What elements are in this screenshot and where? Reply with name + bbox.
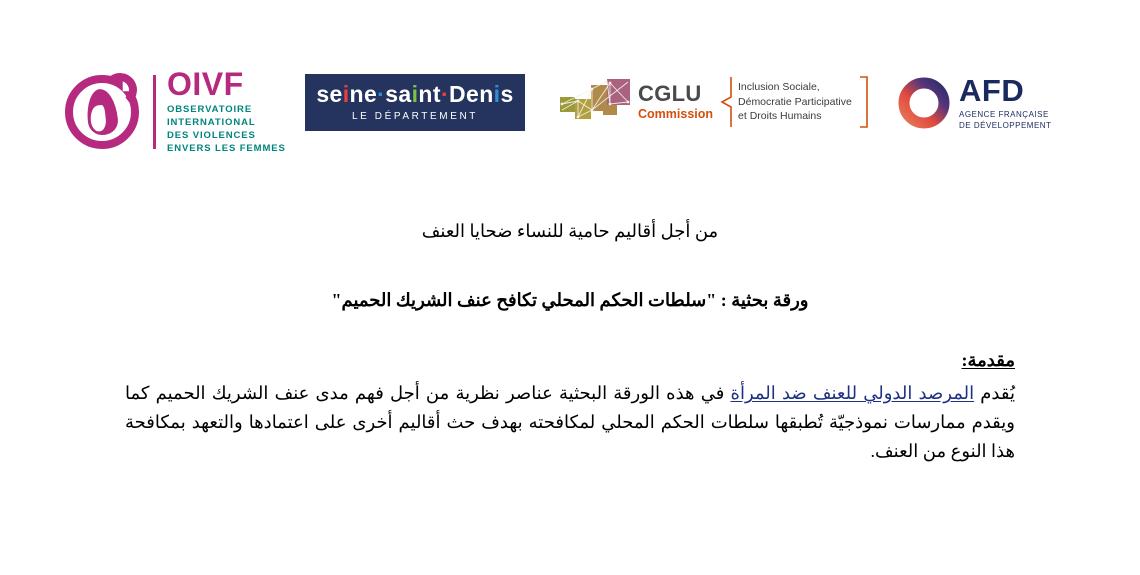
cglu-mosaic-icon bbox=[558, 77, 632, 127]
logo-oivf: OIVF OBSERVATOIRE INTERNATIONAL DES VIOL… bbox=[65, 62, 286, 162]
cglu-tagline-line-3: et Droits Humains bbox=[738, 109, 852, 124]
observatory-hyperlink[interactable]: المرصد الدولي للعنف ضد المرأة bbox=[731, 383, 975, 403]
document-subtitle: من أجل أقاليم حامية للنساء ضحايا العنف bbox=[125, 218, 1015, 245]
cglu-acronym: CGLU bbox=[638, 83, 713, 105]
oivf-subtitle-line-3: DES VIOLENCES bbox=[167, 130, 286, 143]
section-heading-introduction: مقدمة: bbox=[125, 350, 1015, 371]
logo-strip: OIVF OBSERVATOIRE INTERNATIONAL DES VIOL… bbox=[0, 62, 1140, 162]
cglu-tagline-line-1: Inclusion Sociale, bbox=[738, 80, 852, 95]
introduction-paragraph: يُقدم المرصد الدولي للعنف ضد المرأة في ه… bbox=[125, 379, 1015, 466]
logo-cglu: CGLU Commission Inclusion Sociale, Démoc… bbox=[558, 70, 870, 134]
afd-ring-icon bbox=[898, 77, 950, 129]
afd-subtitle: AGENCE FRANÇAISE DE DÉVELOPPEMENT bbox=[959, 110, 1051, 131]
afd-acronym: AFD bbox=[959, 75, 1051, 106]
cglu-tagline-line-2: Démocratie Participative bbox=[738, 95, 852, 110]
document-body: من أجل أقاليم حامية للنساء ضحايا العنف و… bbox=[125, 218, 1015, 484]
oivf-subtitle-line-2: INTERNATIONAL bbox=[167, 117, 286, 130]
oivf-subtitle-line-4: ENVERS LES FEMMES bbox=[167, 143, 286, 156]
oivf-mark-icon bbox=[65, 75, 139, 149]
oivf-divider bbox=[153, 75, 156, 149]
cglu-text-block: CGLU Commission bbox=[638, 83, 713, 121]
afd-subtitle-line-1: AGENCE FRANÇAISE bbox=[959, 110, 1051, 120]
logo-seine-saint-denis: seine·saint·Denis LE DÉPARTEMENT bbox=[305, 74, 525, 131]
cglu-tagline: Inclusion Sociale, Démocratie Participat… bbox=[738, 80, 852, 125]
cglu-right-bracket-icon bbox=[858, 76, 870, 128]
paragraph-text-before-link: يُقدم bbox=[974, 383, 1015, 403]
afd-subtitle-line-2: DE DÉVELOPPEMENT bbox=[959, 121, 1051, 131]
cglu-commission-label: Commission bbox=[638, 108, 713, 121]
oivf-text-block: OIVF OBSERVATOIRE INTERNATIONAL DES VIOL… bbox=[167, 68, 286, 155]
cglu-left-bracket-icon bbox=[720, 76, 734, 128]
oivf-subtitle-line-1: OBSERVATOIRE bbox=[167, 104, 286, 117]
logo-afd: AFD AGENCE FRANÇAISE DE DÉVELOPPEMENT bbox=[898, 74, 1051, 132]
paper-title: ورقة بحثية : "سلطات الحكم المحلي تكافح ع… bbox=[125, 287, 1015, 314]
ssd-subtitle: LE DÉPARTEMENT bbox=[352, 111, 478, 122]
oivf-acronym: OIVF bbox=[167, 68, 286, 100]
oivf-subtitle: OBSERVATOIRE INTERNATIONAL DES VIOLENCES… bbox=[167, 104, 286, 155]
afd-text-block: AFD AGENCE FRANÇAISE DE DÉVELOPPEMENT bbox=[959, 75, 1051, 131]
ssd-wordmark: seine·saint·Denis bbox=[316, 83, 513, 106]
